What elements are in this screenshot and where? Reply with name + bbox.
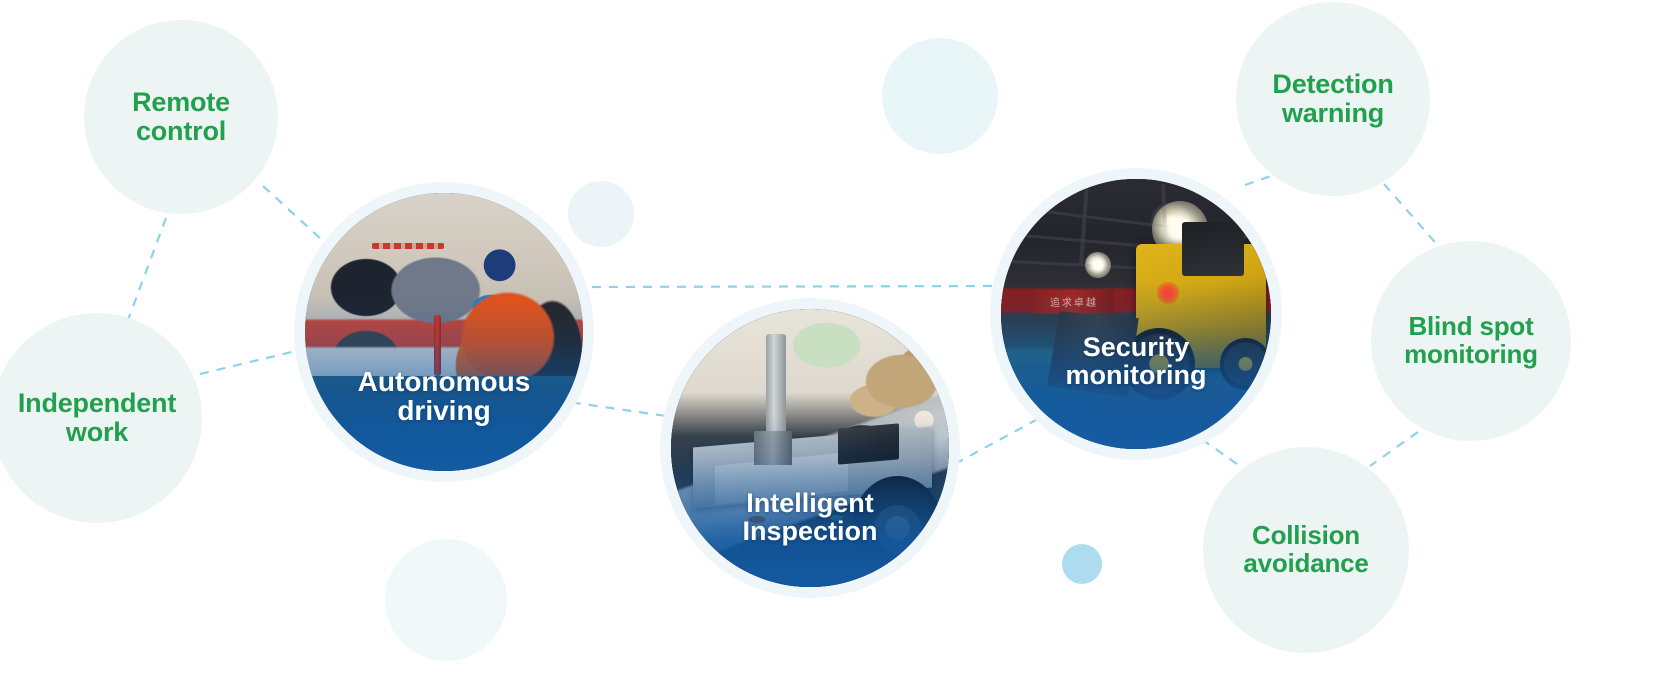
blindspot-to-collision: [1370, 432, 1418, 466]
photo-bubble-security-monitoring[interactable]: 追求卓越 Security monitoring: [990, 168, 1282, 460]
label-bubble-remote-control[interactable]: Remote control: [84, 20, 278, 214]
photo-frame: Intelligent Inspection: [671, 309, 949, 587]
remote-to-independent: [128, 218, 166, 320]
photo-caption: Security monitoring: [1001, 333, 1271, 389]
detection-to-blindspot: [1384, 184, 1440, 248]
label-text: Independent work: [18, 389, 176, 446]
label-text: Remote control: [132, 88, 230, 145]
label-bubble-independent-work[interactable]: Independent work: [0, 313, 202, 523]
ceiling-lamp: [1085, 252, 1111, 278]
photo-frame: Autonomous driving: [305, 193, 583, 471]
label-bubble-detection-warning[interactable]: Detection warning: [1236, 2, 1430, 196]
label-text: Blind spot monitoring: [1404, 313, 1538, 368]
label-text: Detection warning: [1272, 70, 1393, 127]
wall-banner: [372, 243, 444, 249]
loader-cab: [1182, 222, 1244, 276]
capability-diagram: Remote control Independent work Detectio…: [0, 0, 1678, 681]
photo-frame: 追求卓越 Security monitoring: [1001, 179, 1271, 449]
autonomous-to-security: [592, 286, 992, 287]
photo-bubble-autonomous-driving[interactable]: Autonomous driving: [294, 182, 594, 482]
label-bubble-blind-spot-monitoring[interactable]: Blind spot monitoring: [1371, 241, 1571, 441]
photo-bubble-intelligent-inspection[interactable]: Intelligent Inspection: [660, 298, 960, 598]
photo-caption: Intelligent Inspection: [671, 489, 949, 545]
label-text: Collision avoidance: [1243, 522, 1368, 577]
roof-column: [1079, 184, 1089, 265]
label-bubble-collision-avoidance[interactable]: Collision avoidance: [1203, 447, 1409, 653]
independent-to-autonomous: [200, 350, 300, 374]
photo-caption: Autonomous driving: [305, 367, 583, 425]
